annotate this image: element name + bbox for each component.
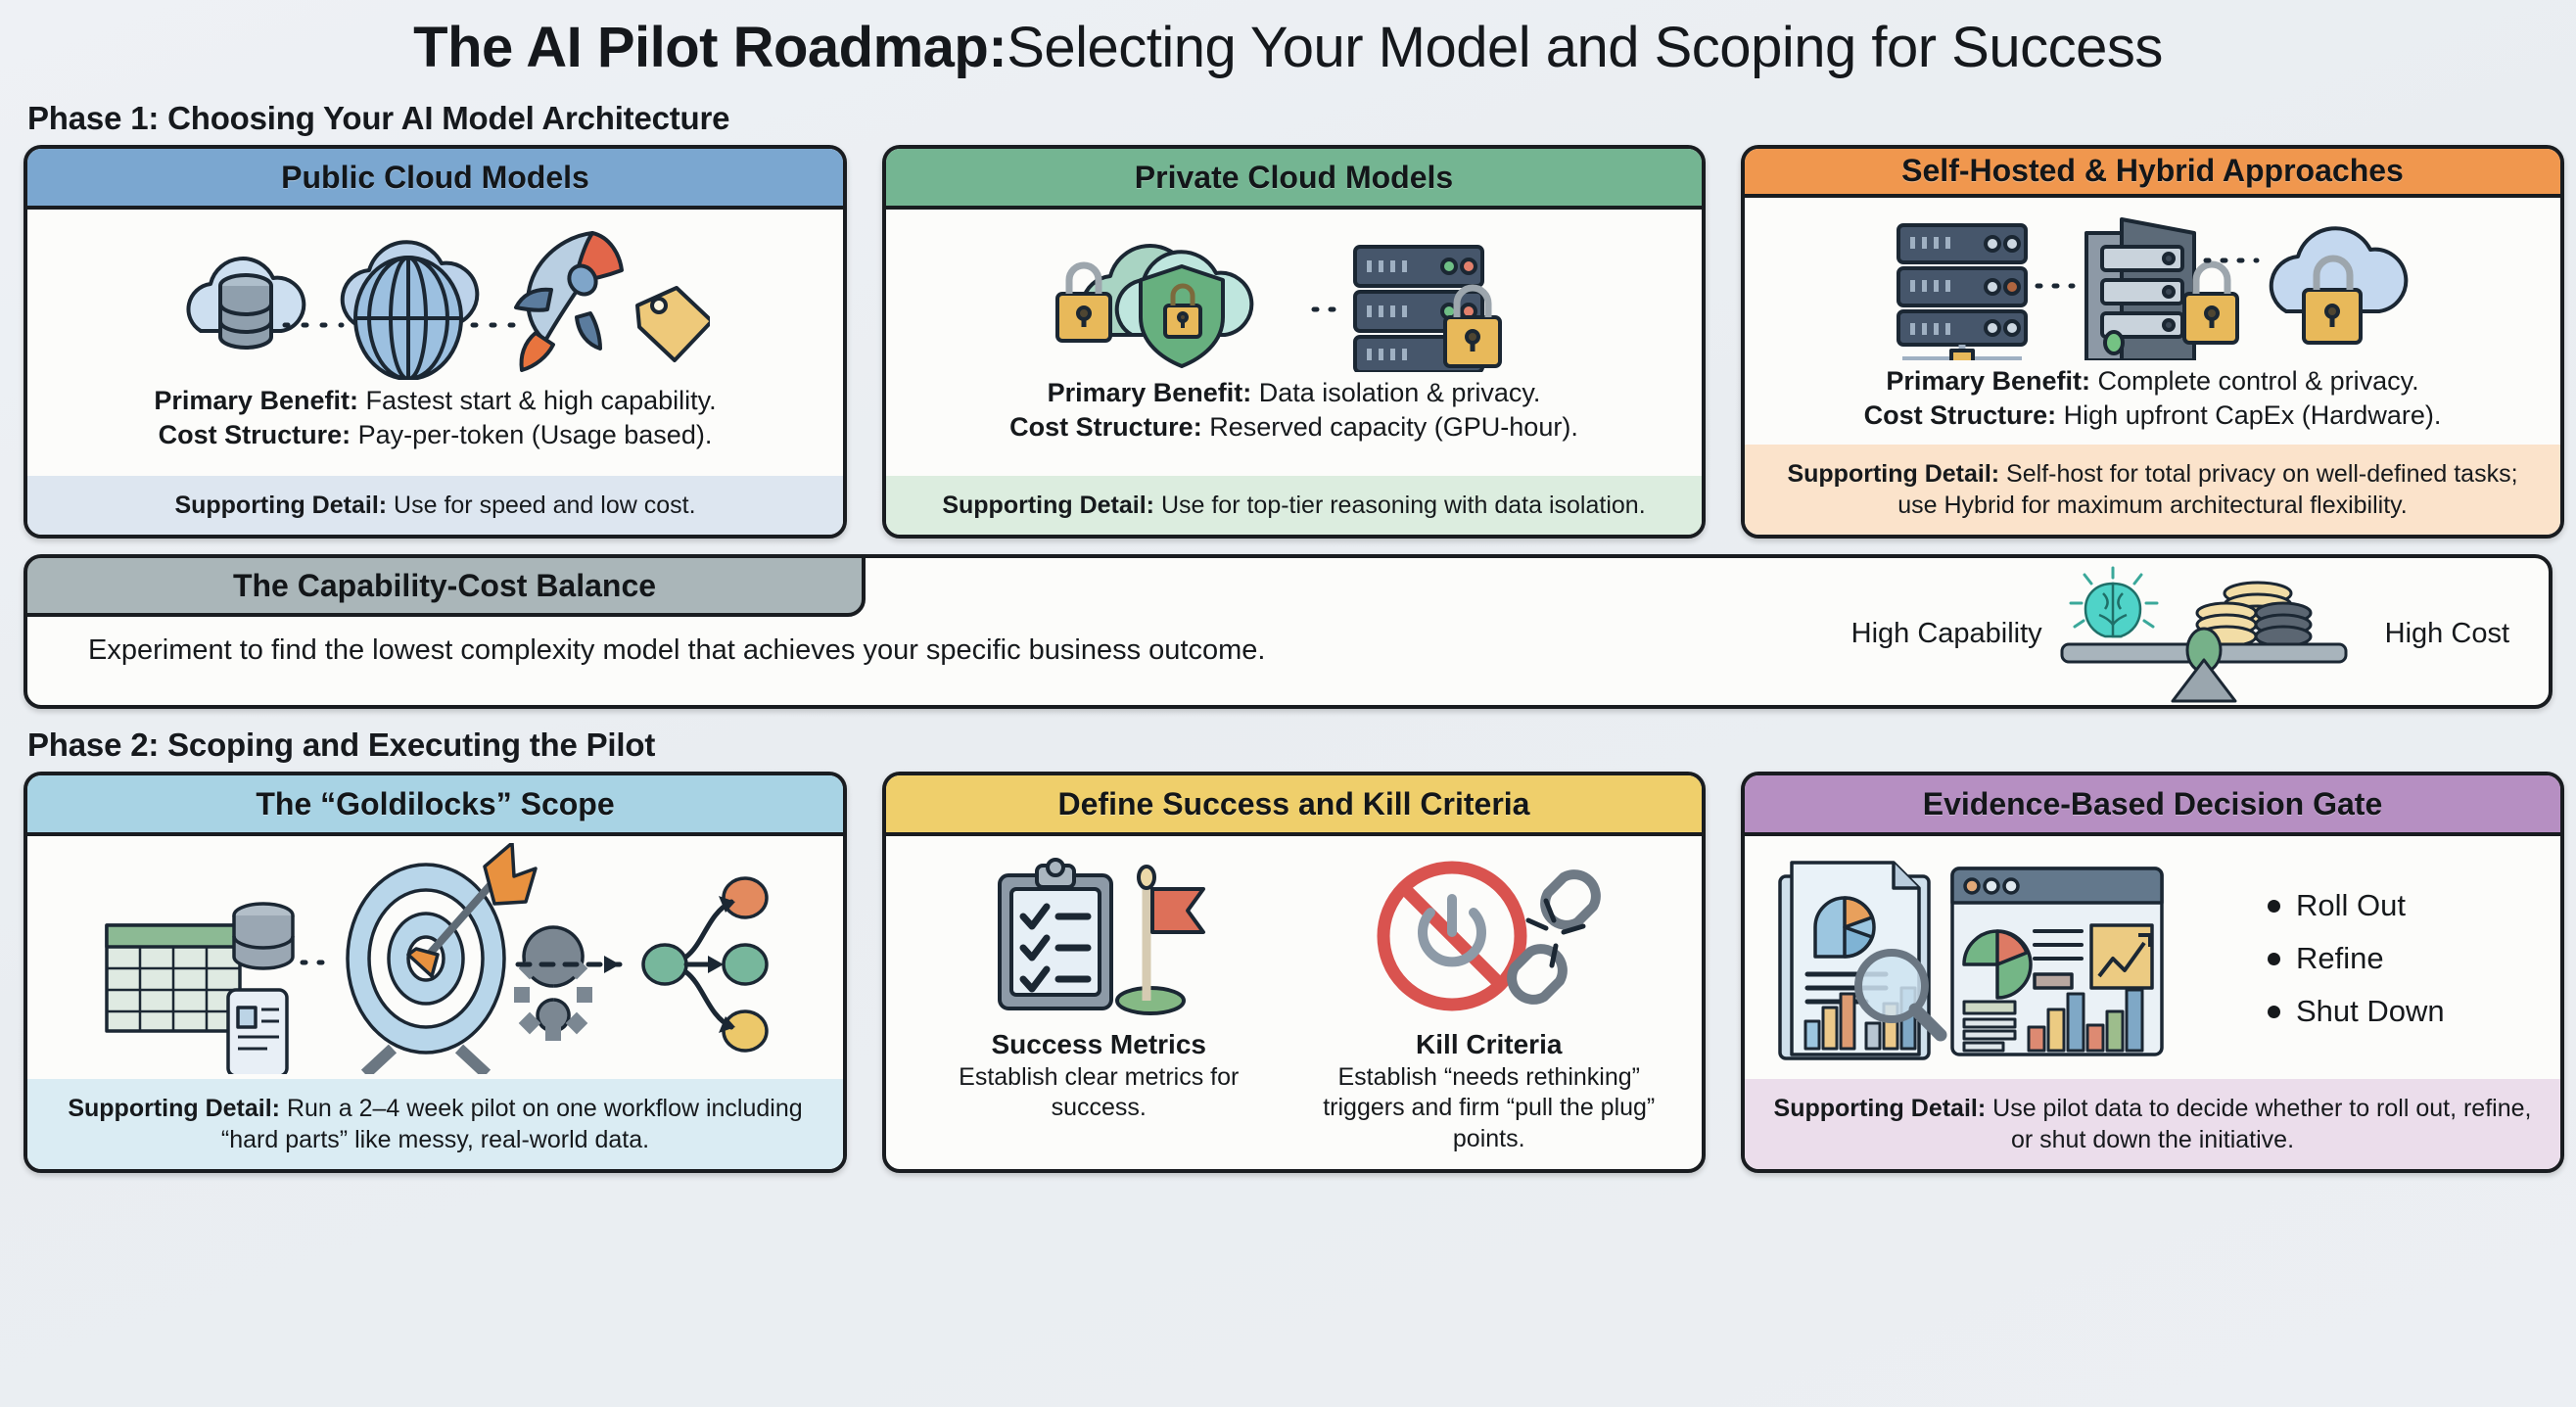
benefit-label: Primary Benefit:	[154, 386, 358, 415]
card-private-cloud[interactable]: Private Cloud Models	[882, 145, 1706, 539]
balance-tab-label: The Capability-Cost Balance	[23, 554, 866, 617]
bullet-label: Roll Out	[2296, 888, 2406, 923]
benefit-label: Primary Benefit:	[1886, 366, 2090, 396]
bullet-dot-icon	[2268, 1006, 2280, 1018]
balance-right-label: High Cost	[2385, 618, 2509, 650]
phase1-card-row: Public Cloud Models	[23, 145, 2553, 539]
card-self-hosted-footer: Supporting Detail: Self-host for total p…	[1745, 445, 2560, 535]
kill-criteria-text: Establish “needs rethinking” triggers an…	[1305, 1062, 1672, 1154]
phase2-heading: Phase 2: Scoping and Executing the Pilot	[27, 727, 2553, 764]
card-success-kill-header: Define Success and Kill Criteria	[886, 775, 1702, 836]
list-item: Refine	[2268, 941, 2445, 976]
page-title-rest: Selecting Your Model and Scoping for Suc…	[1007, 15, 2163, 80]
card-decision-gate-header: Evidence-Based Decision Gate	[1745, 775, 2560, 836]
phase2-card-row: The “Goldilocks” Scope	[23, 772, 2553, 1173]
kill-criteria-title: Kill Criteria	[1305, 1029, 1672, 1060]
card-goldilocks-scope[interactable]: The “Goldilocks” Scope	[23, 772, 847, 1173]
cost-value: Reserved capacity (GPU-hour).	[1202, 412, 1578, 442]
public-cloud-detail-lines: Primary Benefit: Fastest start & high ca…	[150, 380, 720, 460]
list-item: Shut Down	[2268, 994, 2445, 1029]
self-hosted-illustration	[1879, 204, 2427, 360]
card-success-kill-criteria[interactable]: Define Success and Kill Criteria	[882, 772, 1706, 1173]
success-metrics-text: Establish clear metrics for success.	[915, 1062, 1283, 1124]
support-label: Supporting Detail:	[174, 492, 387, 519]
card-private-cloud-footer: Supporting Detail: Use for top-tier reas…	[886, 476, 1702, 535]
balance-left-label: High Capability	[1851, 618, 2042, 650]
card-public-cloud-footer: Supporting Detail: Use for speed and low…	[27, 476, 843, 535]
cost-label: Cost Structure:	[159, 420, 351, 449]
cost-label: Cost Structure:	[1864, 400, 2057, 430]
capability-cost-balance-band: The Capability-Cost Balance Experiment t…	[23, 554, 2553, 709]
card-decision-gate-footer: Supporting Detail: Use pilot data to dec…	[1745, 1079, 2560, 1169]
support-label: Supporting Detail:	[68, 1095, 280, 1122]
goldilocks-illustration	[93, 843, 778, 1074]
success-metrics-column: Success Metrics Establish clear metrics …	[915, 856, 1283, 1124]
clipboard-flag-icon	[986, 856, 1211, 1020]
support-value: Use for top-tier reasoning with data iso…	[1154, 492, 1646, 519]
benefit-value: Complete control & privacy.	[2090, 366, 2419, 396]
support-label: Supporting Detail:	[1774, 1095, 1987, 1122]
success-kill-columns: Success Metrics Establish clear metrics …	[904, 848, 1684, 1154]
decision-gate-bullet-list: Roll Out Refine Shut Down	[2268, 870, 2445, 1047]
card-private-cloud-header: Private Cloud Models	[886, 149, 1702, 210]
bullet-label: Shut Down	[2296, 994, 2445, 1029]
card-decision-gate[interactable]: Evidence-Based Decision Gate	[1741, 772, 2564, 1173]
cost-value: Pay-per-token (Usage based).	[351, 420, 712, 449]
card-public-cloud-header: Public Cloud Models	[27, 149, 843, 210]
support-value: Run a 2–4 week pilot on one workflow inc…	[221, 1095, 803, 1153]
self-hosted-detail-lines: Primary Benefit: Complete control & priv…	[1860, 360, 2446, 441]
decision-gate-illustration	[1772, 855, 2242, 1062]
card-self-hosted-header: Self-Hosted & Hybrid Approaches	[1745, 149, 2560, 198]
card-self-hosted[interactable]: Self-Hosted & Hybrid Approaches	[1741, 145, 2564, 539]
card-goldilocks-header: The “Goldilocks” Scope	[27, 775, 843, 836]
kill-criteria-column: Kill Criteria Establish “needs rethinkin…	[1305, 856, 1672, 1154]
phase1-heading: Phase 1: Choosing Your AI Model Architec…	[27, 100, 2553, 137]
benefit-label: Primary Benefit:	[1048, 378, 1252, 407]
success-metrics-title: Success Metrics	[915, 1029, 1283, 1060]
seesaw-icon	[2052, 564, 2375, 703]
no-entry-broken-chain-icon	[1372, 856, 1607, 1020]
bullet-dot-icon	[2268, 953, 2280, 965]
support-value: Use pilot data to decide whether to roll…	[1986, 1095, 2531, 1153]
support-label: Supporting Detail:	[1787, 460, 1999, 488]
cost-value: High upfront CapEx (Hardware).	[2056, 400, 2441, 430]
bullet-dot-icon	[2268, 900, 2280, 913]
page-title: The AI Pilot Roadmap: Selecting Your Mod…	[23, 0, 2553, 94]
bullet-label: Refine	[2296, 941, 2384, 976]
balance-illustration: High Capability	[1851, 564, 2509, 703]
card-public-cloud[interactable]: Public Cloud Models	[23, 145, 847, 539]
benefit-value: Fastest start & high capability.	[358, 386, 717, 415]
list-item: Roll Out	[2268, 888, 2445, 923]
cost-label: Cost Structure:	[1009, 412, 1202, 442]
private-cloud-illustration	[1030, 215, 1559, 372]
page-title-strong: The AI Pilot Roadmap:	[413, 15, 1007, 80]
benefit-value: Data isolation & privacy.	[1251, 378, 1540, 407]
support-value: Use for speed and low cost.	[387, 492, 695, 519]
card-goldilocks-footer: Supporting Detail: Run a 2–4 week pilot …	[27, 1079, 843, 1169]
public-cloud-illustration	[162, 215, 710, 380]
balance-body-text: Experiment to find the lowest complexity…	[88, 634, 1265, 667]
private-cloud-detail-lines: Primary Benefit: Data isolation & privac…	[1006, 372, 1582, 452]
infographic-page: The AI Pilot Roadmap: Selecting Your Mod…	[0, 0, 2576, 1407]
support-label: Supporting Detail:	[942, 492, 1154, 519]
